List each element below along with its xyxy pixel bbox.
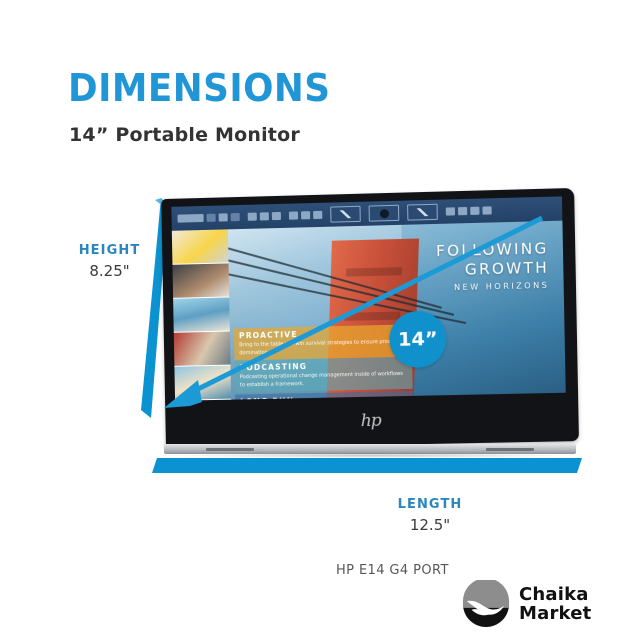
italic-icon (219, 213, 228, 221)
product-name: HP E14 G4 PORT (336, 563, 449, 578)
slide-headline-line3: NEW HORIZONS (437, 281, 550, 293)
duplicate-slide-icon (458, 207, 467, 215)
align-center-icon (260, 212, 269, 220)
slide-thumbnail (174, 332, 231, 367)
shape-circle-icon (369, 205, 400, 222)
watermark-line1: Chaika (519, 585, 591, 604)
monitor-screen: FOLLOWING GROWTH NEW HORIZONS PROACTIVE … (171, 196, 565, 400)
slide-section: PROACTIVE Bring to the table win-win sur… (234, 324, 412, 360)
dimensions-infographic: DIMENSIONS 14” Portable Monitor (0, 0, 640, 640)
slide-thumbnail (172, 229, 229, 264)
monitor-body: FOLLOWING GROWTH NEW HORIZONS PROACTIVE … (161, 188, 579, 449)
new-slide-icon (446, 207, 455, 215)
slide-section-heading: LONG RUN (240, 394, 408, 400)
text-field-icon (178, 214, 204, 223)
monitor-shadow (172, 453, 568, 458)
monitor-illustration: FOLLOWING GROWTH NEW HORIZONS PROACTIVE … (166, 199, 574, 449)
slide-section-body: Podcasting operational change management… (240, 371, 408, 390)
slide-thumbnail (174, 366, 231, 401)
slide-section: PODCASTING Podcasting operational change… (234, 357, 412, 393)
toolbar-group-align (248, 212, 281, 221)
slide-thumbnail (172, 263, 229, 298)
length-arrow-icon (152, 458, 582, 473)
foot-notch-right (486, 448, 534, 451)
active-slide: FOLLOWING GROWTH NEW HORIZONS PROACTIVE … (228, 221, 566, 400)
height-caption: HEIGHT (52, 243, 167, 258)
toolbar-group-layout (289, 211, 322, 220)
foot-notch-left (206, 448, 254, 451)
height-measurement: HEIGHT 8.25" (52, 243, 167, 280)
chart-line-icon (330, 206, 361, 223)
chaika-market-watermark: Chaika Market (462, 580, 591, 628)
slide-headline: FOLLOWING GROWTH NEW HORIZONS (436, 239, 549, 292)
slide-section-body: Bring to the table win-win survival stra… (239, 339, 407, 358)
chart-area-icon (407, 204, 438, 221)
delete-slide-icon (482, 206, 491, 214)
grid-icon (313, 211, 322, 219)
align-right-icon (272, 212, 281, 220)
diagonal-size-badge: 14” (389, 310, 447, 368)
columns-icon (289, 211, 298, 219)
page-subtitle: 14” Portable Monitor (69, 124, 300, 146)
page-title: DIMENSIONS (68, 66, 330, 110)
height-value: 8.25" (52, 262, 167, 280)
toolbar-group-slides (446, 206, 492, 215)
length-measurement: LENGTH 12.5" (370, 497, 490, 534)
watermark-text: Chaika Market (519, 585, 591, 623)
slide-thumbnail-sidebar (172, 229, 231, 400)
slide-headline-line1: FOLLOWING (436, 239, 549, 260)
rows-icon (301, 211, 310, 219)
watermark-line2: Market (519, 604, 591, 623)
align-left-icon (248, 213, 257, 221)
underline-icon (231, 213, 240, 221)
layout-slide-icon (470, 207, 479, 215)
slide-headline-line2: GROWTH (436, 258, 549, 279)
length-caption: LENGTH (370, 497, 490, 512)
slide-thumbnail (173, 297, 230, 332)
toolbar-group-file (178, 213, 240, 223)
bold-icon (207, 214, 216, 222)
length-value: 12.5" (370, 516, 490, 534)
hp-logo-icon: hp (360, 411, 380, 432)
seagull-logo-icon (462, 580, 510, 628)
